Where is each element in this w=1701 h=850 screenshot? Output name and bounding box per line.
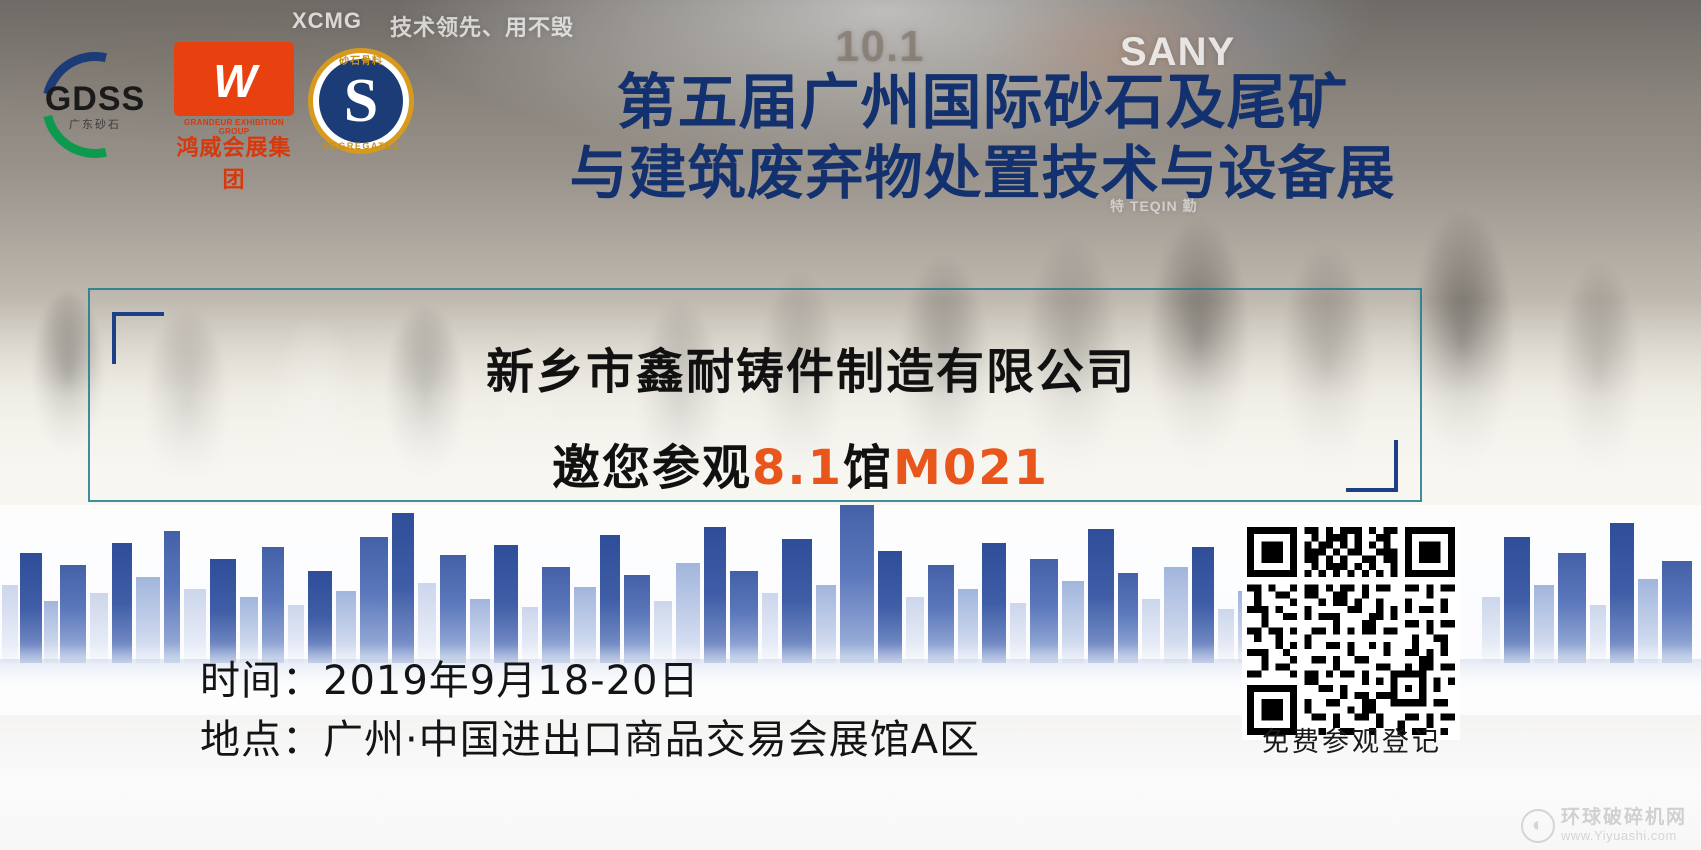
wing-mark-icon: W	[213, 58, 254, 104]
aggregates-bottom-text: AGGREGATES	[308, 141, 414, 151]
event-title-line-2: 与建筑废弃物处置技术与设备展	[500, 139, 1465, 207]
event-title-line-1: 第五届广州国际砂石及尾矿	[500, 68, 1465, 139]
event-title: 第五届广州国际砂石及尾矿 与建筑废弃物处置技术与设备展	[500, 68, 1465, 207]
exhibition-invitation-banner: 10.1 SANY XCMG 技术领先、用不毁 特 TEQIN 勤 GDSS 广…	[0, 0, 1701, 850]
watermark-logo-icon: ◐	[1521, 809, 1555, 843]
aggregates-logo: S 砂石骨料 AGGREGATES	[308, 48, 414, 154]
event-venue: 地点：广州·中国进出口商品交易会展馆A区	[200, 711, 980, 770]
registration-qr-code[interactable]	[1242, 522, 1460, 740]
invite-prefix: 邀您参观	[552, 440, 752, 496]
hall-number: 8.1	[752, 440, 843, 496]
watermark-text: 环球破碎机网 www.Yiyuashi.com	[1561, 807, 1687, 844]
qr-code-icon	[1247, 527, 1455, 735]
grandeur-logo-box: W	[174, 42, 294, 116]
grandeur-logo-chinese: 鸿威会展集团	[174, 130, 294, 194]
booth-number: M021	[893, 440, 1049, 496]
watermark-url: www.Yiyuashi.com	[1561, 829, 1687, 844]
logo-group: GDSS 广东砂石 W GRANDEUR EXHIBITION GROUP 鸿威…	[30, 42, 414, 160]
gdss-logo: GDSS 广东砂石	[30, 44, 160, 159]
gdss-logo-text: GDSS	[30, 80, 160, 119]
grandeur-exhibition-group-logo: W GRANDEUR EXHIBITION GROUP 鸿威会展集团	[174, 42, 294, 160]
aggregates-top-text: 砂石骨料	[308, 52, 414, 67]
event-date: 时间：2019年9月18-20日	[200, 652, 980, 711]
event-details: 时间：2019年9月18-20日 地点：广州·中国进出口商品交易会展馆A区	[200, 652, 980, 770]
qr-registration-label: 免费参观登记	[1238, 720, 1466, 759]
hall-word: 馆	[843, 440, 893, 496]
company-name: 新乡市鑫耐铸件制造有限公司	[486, 332, 1136, 402]
site-watermark: ◐ 环球破碎机网 www.Yiyuashi.com	[1521, 807, 1687, 844]
watermark-site-name: 环球破碎机网	[1561, 807, 1687, 829]
gdss-logo-subtext: 广东砂石	[30, 116, 160, 132]
invitation-line: 邀您参观8.1馆M021	[552, 428, 1049, 498]
